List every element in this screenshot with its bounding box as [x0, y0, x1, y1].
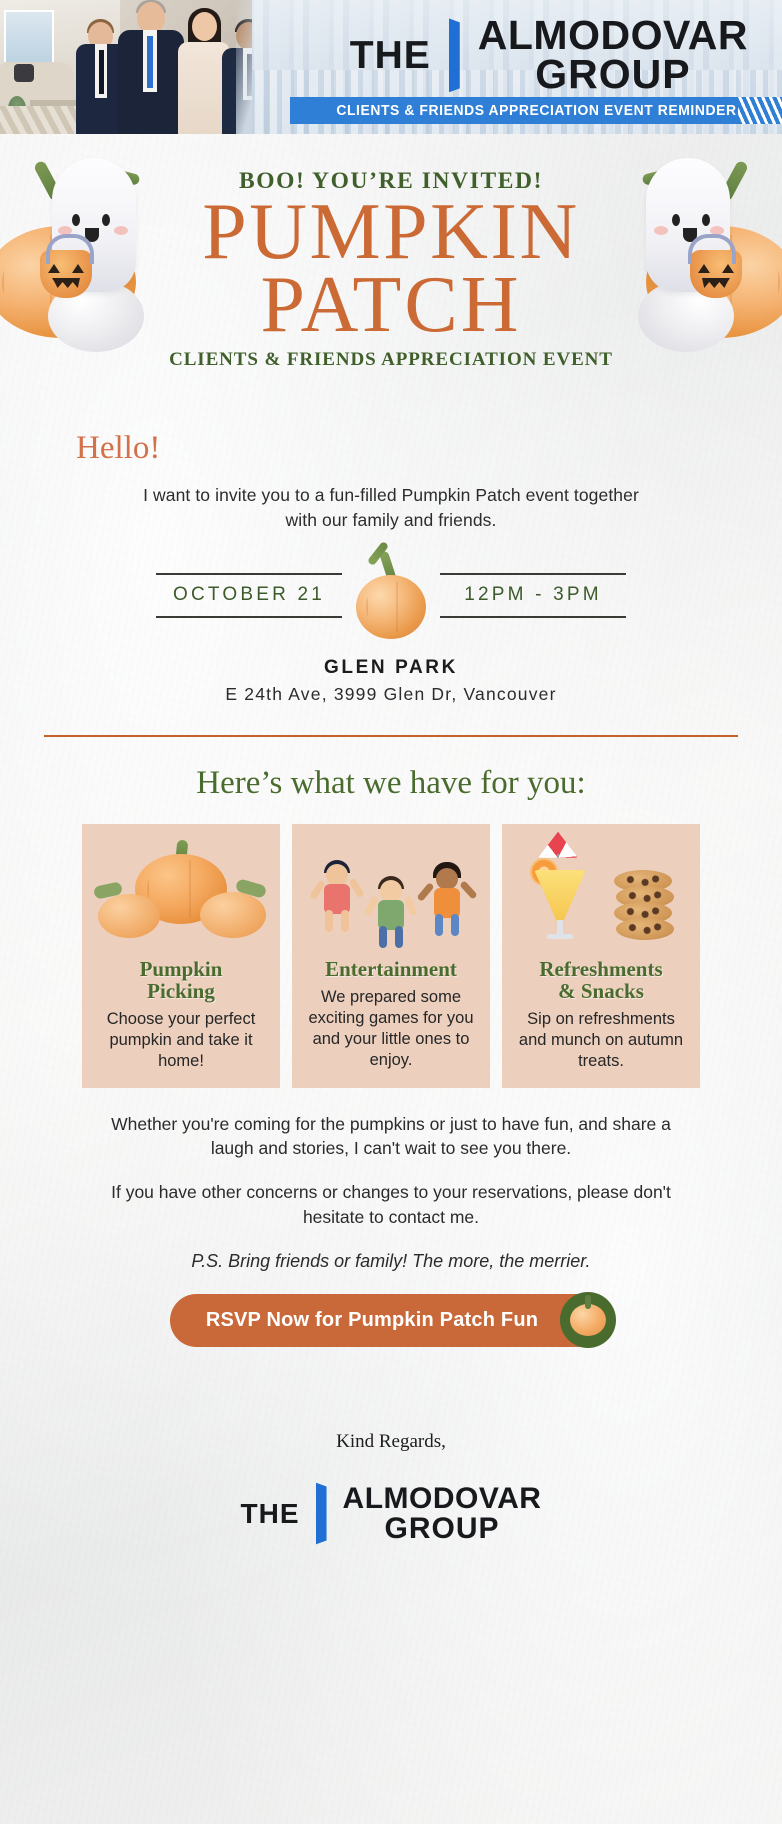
- feature-card-pumpkin-picking: Pumpkin Picking Choose your perfect pump…: [82, 824, 280, 1088]
- logo-group-text: GROUP: [535, 55, 690, 94]
- main-content: Hello! I want to invite you to a fun-fil…: [0, 430, 782, 1545]
- feature-card-title-line2: Picking: [147, 979, 215, 1003]
- feature-card-title-line1: Refreshments: [539, 957, 662, 981]
- header-banner: THE ALMODOVAR GROUP CLIENTS & FRIENDS AP…: [0, 0, 782, 134]
- date-time-row: OCTOBER 21 12PM - 3PM: [38, 551, 744, 641]
- window-decor: [4, 10, 54, 66]
- rsvp-button[interactable]: RSVP Now for Pumpkin Patch Fun: [170, 1294, 612, 1347]
- logo-almodovar-text: ALMODOVAR: [478, 16, 748, 55]
- features-heading: Here’s what we have for you:: [38, 765, 744, 802]
- child-figure-1: [312, 844, 362, 948]
- cocktail-umbrella-icon: [538, 832, 578, 858]
- child-figure-2: [366, 852, 416, 948]
- logo-the-text: THE: [350, 36, 431, 75]
- logo-name-block: ALMODOVAR GROUP: [478, 16, 748, 95]
- cocktail-glass-icon: [534, 856, 586, 942]
- feature-card-title: Pumpkin Picking: [140, 958, 223, 1002]
- footer-logo: THE ALMODOVAR GROUP: [38, 1483, 744, 1545]
- drink-and-cookies-icon: [512, 836, 690, 954]
- closing-ps: P.S. Bring friends or family! The more, …: [106, 1249, 676, 1274]
- event-time-block: 12PM - 3PM: [440, 564, 626, 627]
- kind-regards-text: Kind Regards,: [38, 1431, 744, 1453]
- footer-logo-name-block: ALMODOVAR GROUP: [343, 1484, 542, 1544]
- agent-person-2: [118, 0, 184, 134]
- closing-paragraph-1: Whether you're coming for the pumpkins o…: [106, 1112, 676, 1160]
- feature-card-title: Entertainment: [325, 958, 457, 980]
- cookie-stack-icon: [614, 870, 676, 940]
- feature-card-entertainment: Entertainment We prepared some exciting …: [292, 824, 490, 1088]
- divider-line-bottom: [440, 616, 626, 618]
- hero-text-block: BOO! YOU’RE INVITED! PUMPKIN PATCH CLIEN…: [0, 168, 782, 371]
- rsvp-button-label: RSVP Now for Pumpkin Patch Fun: [206, 1309, 538, 1331]
- closing-paragraph-2: If you have other concerns or changes to…: [106, 1180, 676, 1228]
- closing-section: Whether you're coming for the pumpkins o…: [38, 1112, 744, 1273]
- children-playing-icon: [302, 836, 480, 954]
- hero-title-line1: PUMPKIN: [0, 197, 782, 267]
- photo-fade-edge: [236, 0, 252, 134]
- team-photo: [0, 0, 252, 134]
- section-divider: [44, 735, 738, 737]
- sofa-decor: [0, 62, 74, 102]
- ribbon-stripes-decor: [738, 97, 782, 124]
- header-ribbon: CLIENTS & FRIENDS APPRECIATION EVENT REM…: [290, 97, 782, 124]
- venue-block: GLEN PARK E 24th Ave, 3999 Glen Dr, Vanc…: [38, 657, 744, 705]
- feature-card-title-line2: & Snacks: [558, 979, 644, 1003]
- agent-group: [70, 0, 252, 134]
- feature-card-text: Choose your perfect pumpkin and take it …: [92, 1009, 270, 1072]
- feature-card-title: Refreshments & Snacks: [539, 958, 662, 1002]
- feature-card-refreshments: Refreshments & Snacks Sip on refreshment…: [502, 824, 700, 1088]
- features-card-row: Pumpkin Picking Choose your perfect pump…: [38, 824, 744, 1088]
- child-figure-3: [422, 848, 472, 948]
- divider-line-bottom: [156, 616, 342, 618]
- event-date-value: OCTOBER 21: [156, 575, 342, 616]
- footer-logo-blue-bar-icon: [316, 1483, 327, 1545]
- venue-address: E 24th Ave, 3999 Glen Dr, Vancouver: [38, 684, 744, 705]
- intro-paragraph: I want to invite you to a fun-filled Pum…: [126, 483, 656, 533]
- pumpkin-badge-icon: [560, 1292, 616, 1348]
- pumpkin-divider-icon: [354, 551, 428, 641]
- hero-title-line2: PATCH: [0, 267, 782, 343]
- feature-card-text: We prepared some exciting games for you …: [302, 987, 480, 1071]
- footer-logo-the-text: THE: [241, 1498, 300, 1530]
- header-logo: THE ALMODOVAR GROUP: [350, 16, 748, 95]
- feature-card-title-line1: Entertainment: [325, 957, 457, 981]
- hero-subtitle: CLIENTS & FRIENDS APPRECIATION EVENT: [0, 349, 782, 371]
- logo-blue-bar-icon: [449, 18, 460, 92]
- header-ribbon-text: CLIENTS & FRIENDS APPRECIATION EVENT REM…: [336, 103, 736, 119]
- cta-row: RSVP Now for Pumpkin Patch Fun: [38, 1294, 744, 1347]
- email-invitation-page: THE ALMODOVAR GROUP CLIENTS & FRIENDS AP…: [0, 0, 782, 1824]
- venue-name: GLEN PARK: [38, 657, 744, 679]
- footer-logo-almodovar-text: ALMODOVAR: [343, 1484, 542, 1514]
- event-date-block: OCTOBER 21: [156, 564, 342, 627]
- greeting-text: Hello!: [76, 430, 744, 467]
- hero-section: BOO! YOU’RE INVITED! PUMPKIN PATCH CLIEN…: [0, 134, 782, 394]
- footer-logo-group-text: GROUP: [384, 1514, 499, 1544]
- pillow-decor: [14, 64, 34, 82]
- signoff-section: Kind Regards, THE ALMODOVAR GROUP: [38, 1431, 744, 1545]
- pumpkin-cluster-icon: [92, 836, 270, 954]
- feature-card-text: Sip on refreshments and munch on autumn …: [512, 1009, 690, 1072]
- event-time-value: 12PM - 3PM: [440, 575, 626, 616]
- feature-card-title-line1: Pumpkin: [140, 957, 223, 981]
